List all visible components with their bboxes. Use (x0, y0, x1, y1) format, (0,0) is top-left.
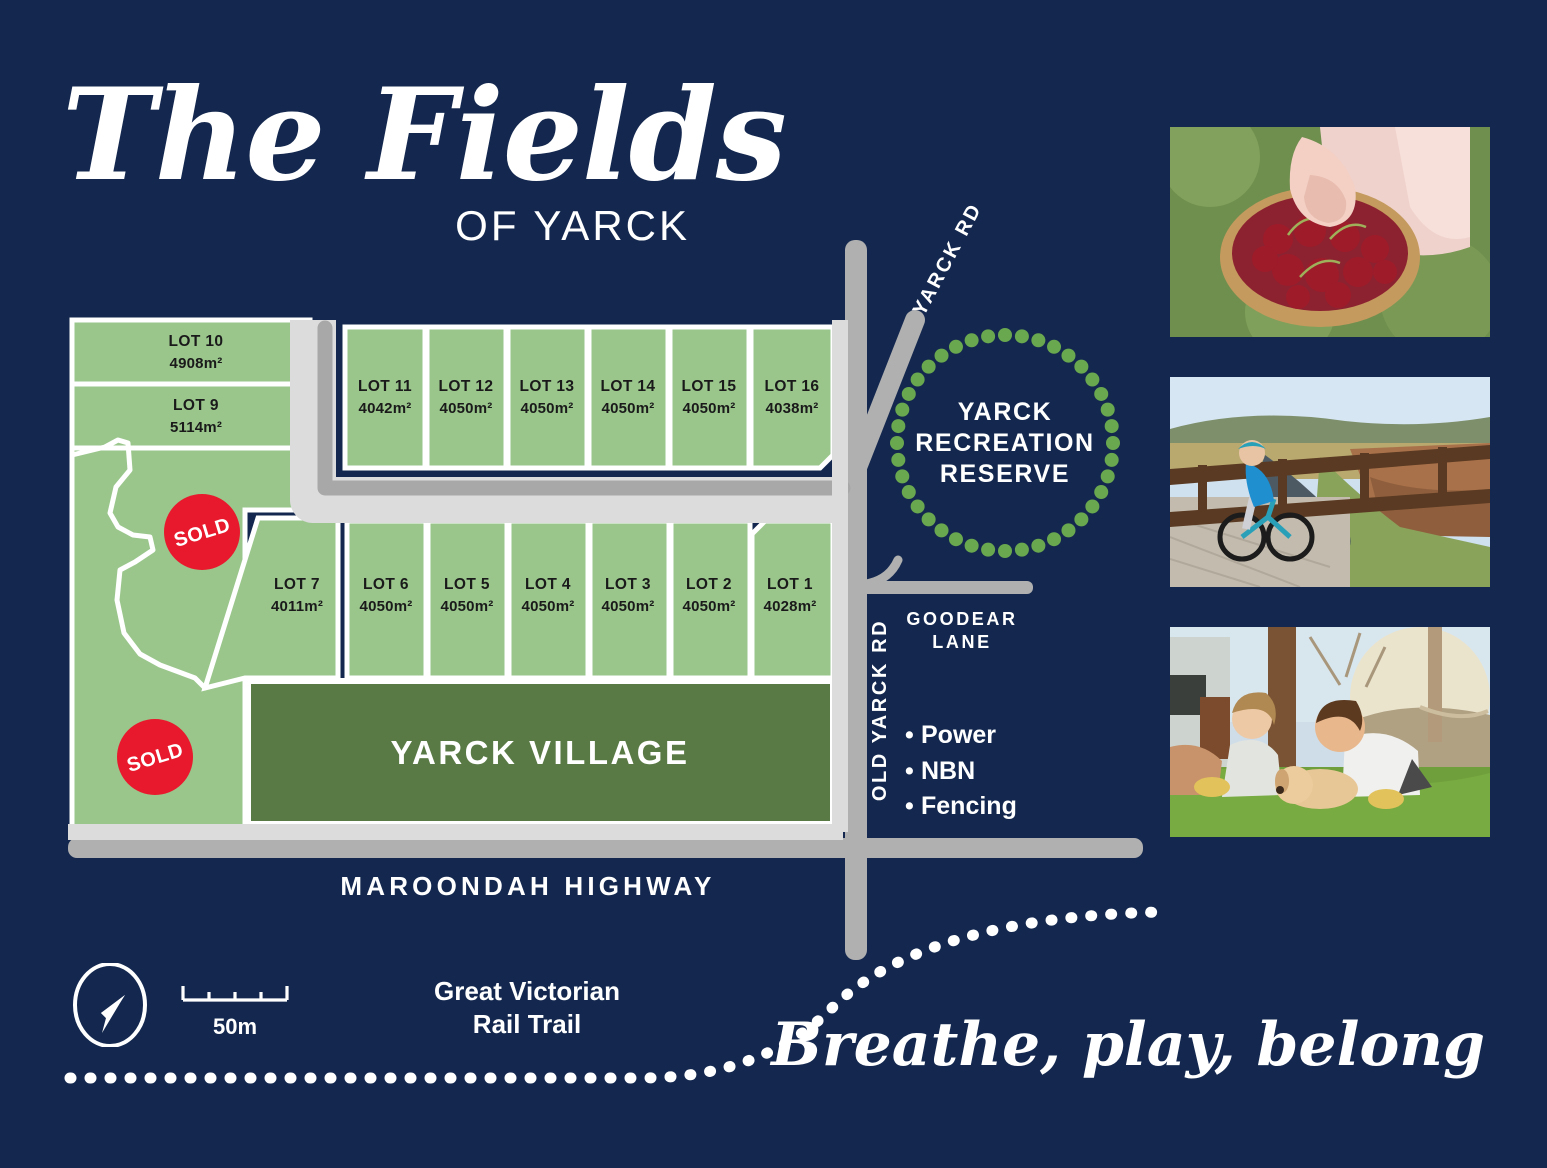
reserve-boundary-dot (1105, 453, 1119, 467)
reserve-boundary-dot (1094, 387, 1108, 401)
reserve-boundary-dot (1085, 373, 1099, 387)
reserve-boundary-dot (1061, 523, 1075, 537)
lot-3-area: 4050m² (602, 598, 655, 615)
reserve-boundary-dot (1085, 499, 1099, 513)
lot-10-shape[interactable] (72, 320, 310, 384)
feature-item: •NBN (905, 754, 1017, 790)
reserve-boundary-dot (902, 387, 916, 401)
rail-trail-line1: Great Victorian (357, 975, 697, 1008)
reserve-boundary-dot (911, 373, 925, 387)
reserve-boundary-dot (1061, 349, 1075, 363)
lot-11-area: 4042m² (359, 400, 412, 417)
photo-cyclist (1170, 377, 1490, 587)
reserve-boundary-dot (981, 329, 995, 343)
reserve-boundary-dot (1094, 485, 1108, 499)
lot-15-shape[interactable] (670, 327, 749, 468)
lot-16-shape[interactable] (751, 327, 833, 468)
reserve-boundary-dot (1101, 469, 1115, 483)
reserve-label-line2: RECREATION (915, 429, 1094, 457)
lot-16-area: 4038m² (766, 400, 819, 417)
reserve-boundary-dot (1074, 512, 1088, 526)
reserve-boundary-dot (1031, 333, 1045, 347)
reserve-boundary-dot (1047, 532, 1061, 546)
feature-label: Fencing (921, 792, 1017, 820)
bullet-icon: • (905, 754, 921, 790)
feature-label: Power (921, 721, 996, 749)
reserve-boundary-dot (965, 539, 979, 553)
reserve-boundary-dot (922, 360, 936, 374)
lot-row-north (345, 327, 833, 468)
reserve-boundary-dot (922, 512, 936, 526)
lot-12-number: LOT 12 (439, 378, 494, 395)
lot-15-area: 4050m² (683, 400, 736, 417)
lot-5-number: LOT 5 (444, 576, 490, 593)
lot-7-number: LOT 7 (274, 576, 320, 593)
bullet-icon: • (905, 789, 921, 825)
reserve-boundary-dot (891, 419, 905, 433)
lot-10-area: 4908m² (170, 355, 223, 372)
reserve-boundary-dot (965, 333, 979, 347)
feature-item: •Fencing (905, 789, 1017, 825)
lot-14-shape[interactable] (589, 327, 668, 468)
reserve-boundary-dot (1015, 543, 1029, 557)
lot-1-number: LOT 1 (767, 576, 813, 593)
lot-11-number: LOT 11 (358, 378, 412, 395)
photo-family (1170, 627, 1490, 837)
lot-14-area: 4050m² (602, 400, 655, 417)
reserve-label-line3: RESERVE (940, 460, 1070, 488)
reserve-boundary-dot (895, 469, 909, 483)
scale-bar: 50m (180, 982, 290, 1040)
reserve-boundary-dot (891, 453, 905, 467)
reserve-boundary-dot (949, 532, 963, 546)
label-maroondah-highway: MAROONDAH HIGHWAY (340, 871, 715, 901)
lot-2-number: LOT 2 (686, 576, 732, 593)
lot-13-shape[interactable] (508, 327, 587, 468)
reserve-boundary-dot (895, 403, 909, 417)
lot-6-number: LOT 6 (363, 576, 409, 593)
lot-2-area: 4050m² (683, 598, 736, 615)
reserve-boundary-dot (1101, 403, 1115, 417)
feature-label: NBN (921, 757, 975, 785)
lot-13-number: LOT 13 (520, 378, 575, 395)
lot-5-area: 4050m² (441, 598, 494, 615)
reserve-boundary-dot (981, 543, 995, 557)
lot-6-area: 4050m² (360, 598, 413, 615)
reserve-boundary-dot (1047, 340, 1061, 354)
lot-12-area: 4050m² (440, 400, 493, 417)
sold-badge: SOLD (164, 494, 240, 570)
lot-9-number: LOT 9 (173, 397, 219, 414)
reserve-boundary-dot (911, 499, 925, 513)
lot-9-area: 5114m² (170, 419, 222, 436)
scale-value: 50m (180, 1014, 290, 1040)
lot-11-shape[interactable] (345, 327, 425, 468)
label-yarck-rd: YARCK RD (909, 199, 987, 319)
yarck-village-label: YARCK VILLAGE (391, 734, 690, 771)
reserve-boundary-dot (1105, 419, 1119, 433)
reserve-boundary-dot (890, 436, 904, 450)
lot-7-area: 4011m² (271, 598, 323, 615)
yarck-recreation-reserve: YARCK RECREATION RESERVE (890, 328, 1120, 558)
lot-15-number: LOT 15 (682, 378, 737, 395)
bullet-icon: • (905, 718, 921, 754)
lot-14-number: LOT 14 (601, 378, 656, 395)
features-list: •Power •NBN •Fencing (905, 718, 1017, 825)
reserve-boundary-dot (998, 328, 1012, 342)
label-old-yarck-rd: OLD YARCK RD (869, 619, 891, 801)
lot-9-shape[interactable] (72, 384, 310, 448)
lot-12-shape[interactable] (427, 327, 506, 468)
lot-10-number: LOT 10 (169, 333, 224, 350)
rail-trail-line2: Rail Trail (357, 1008, 697, 1041)
lot-4-area: 4050m² (522, 598, 575, 615)
reserve-boundary-dot (1015, 329, 1029, 343)
lot-1-area: 4028m² (764, 598, 817, 615)
reserve-boundary-dot (1106, 436, 1120, 450)
label-goodear-lane-1: GOODEAR (906, 609, 1017, 629)
sold-badge: SOLD (117, 719, 193, 795)
reserve-label-line1: YARCK (958, 398, 1053, 426)
lot-13-area: 4050m² (521, 400, 574, 417)
tagline: Breathe, play, belong (771, 1012, 1485, 1078)
reserve-boundary-dot (949, 340, 963, 354)
reserve-boundary-dot (998, 544, 1012, 558)
rail-trail-label: Great Victorian Rail Trail (357, 975, 697, 1041)
reserve-boundary-dot (1031, 539, 1045, 553)
feature-item: •Power (905, 718, 1017, 754)
reserve-boundary-dot (1074, 360, 1088, 374)
lot-row-south (347, 521, 833, 678)
lot-16-number: LOT 16 (765, 378, 820, 395)
road-maroondah-highway (68, 838, 1143, 858)
reserve-boundary-dot (935, 349, 949, 363)
lot-3-number: LOT 3 (605, 576, 651, 593)
compass-north-icon (68, 963, 152, 1047)
reserve-boundary-dot (902, 485, 916, 499)
photo-cherries (1170, 127, 1490, 337)
label-goodear-lane-2: LANE (932, 632, 991, 652)
road-goodear-lane (858, 581, 1033, 594)
lot-4-number: LOT 4 (525, 576, 571, 593)
reserve-boundary-dot (935, 523, 949, 537)
